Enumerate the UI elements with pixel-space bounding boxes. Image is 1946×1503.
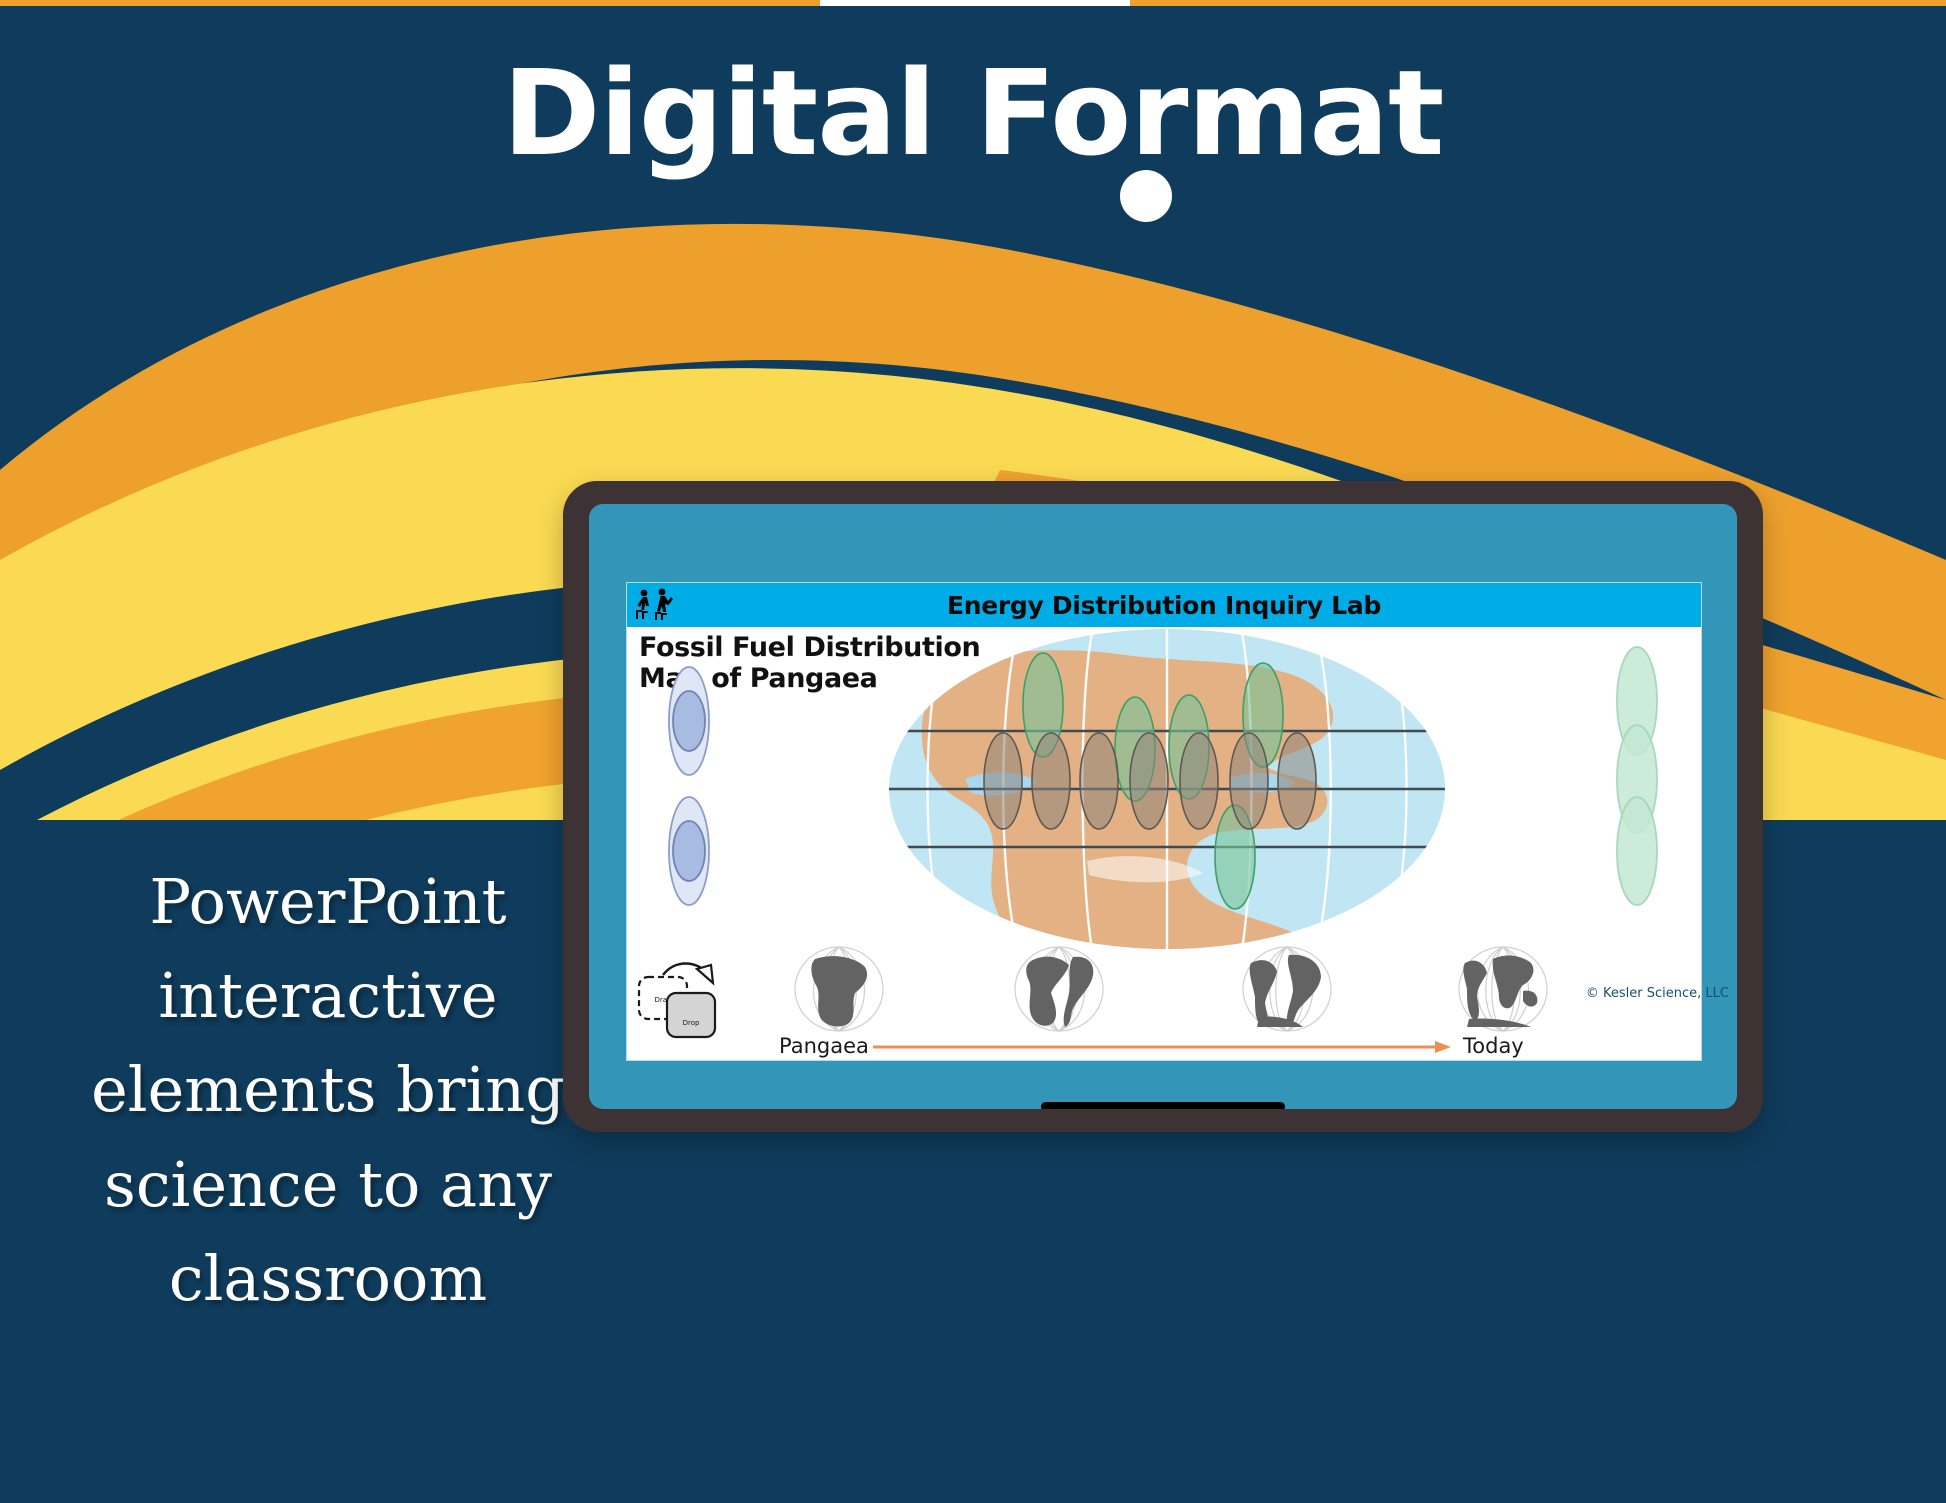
slide-header-title: Energy Distribution Inquiry Lab [681,591,1701,620]
timeline-start-label: Pangaea [779,1034,869,1058]
blue-marker[interactable] [669,667,709,775]
gray-marker[interactable] [1130,733,1168,829]
slide-header-bar: Energy Distribution Inquiry Lab [627,583,1701,627]
globe-drift-stage-3 [1243,947,1331,1031]
globe-drift-stage-2 [1015,947,1103,1031]
drag-drop-icon[interactable]: Drag Drop [639,964,715,1038]
tablet-device: Energy Distribution Inquiry Lab Fossil F… [563,481,1763,1132]
globe-pangaea [795,947,883,1031]
marker-tray-right[interactable] [1617,647,1657,905]
drop-label: Drop [683,1019,700,1027]
blue-marker[interactable] [669,797,709,905]
gray-marker[interactable] [984,733,1022,829]
marker-tray-left[interactable] [669,667,709,905]
gray-marker[interactable] [1180,733,1218,829]
gray-marker[interactable] [1230,733,1268,829]
page-title: Digital Format [0,52,1946,176]
globe-today [1459,947,1547,1031]
timeline-end-label: Today [1462,1034,1524,1058]
copyright-notice: © Kesler Science, LLC [1586,986,1729,1001]
caption-text: PowerPoint interactive elements bring sc… [18,855,638,1326]
home-indicator[interactable] [1041,1102,1285,1109]
gray-marker[interactable] [1032,733,1070,829]
green-marker[interactable] [1617,797,1657,905]
timeline-arrow-head [1435,1041,1451,1053]
students-jumping-icon [627,588,681,622]
gray-marker[interactable] [1278,733,1316,829]
presentation-slide: Energy Distribution Inquiry Lab Fossil F… [626,582,1702,1061]
pangaea-map [627,629,1702,959]
continental-drift-timeline: Drag Drop [627,943,1702,1061]
tablet-screen: Energy Distribution Inquiry Lab Fossil F… [589,504,1737,1109]
gray-marker[interactable] [1080,733,1118,829]
poster-canvas: Digital Format PowerPoint interactive el… [0,0,1946,1503]
